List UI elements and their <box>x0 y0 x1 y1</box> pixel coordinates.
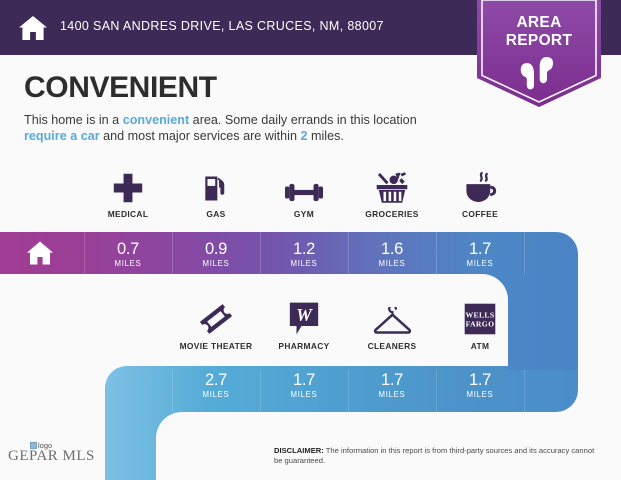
footer-logo: GEPAR MLS logo <box>8 441 118 467</box>
page-title: CONVENIENT <box>24 71 217 105</box>
grocery-basket-icon <box>348 164 436 204</box>
badge-label: AREA REPORT <box>477 14 601 50</box>
disclaimer-label: DISCLAIMER: <box>274 446 324 455</box>
ribbon-home-icon <box>26 240 54 266</box>
distance-cell-cleaners: 1.7 MILES <box>348 371 436 399</box>
distance-cell-gas: 0.9 MILES <box>172 240 260 268</box>
distance-cell-coffee: 1.7 MILES <box>436 240 524 268</box>
area-report-badge: AREA REPORT <box>477 0 601 108</box>
badge-line-2: REPORT <box>477 32 601 50</box>
amenity-medical: MEDICAL <box>84 164 172 228</box>
svg-text:WELLS: WELLS <box>466 310 495 319</box>
amenity-icon-row-1: MEDICAL GAS <box>84 164 524 228</box>
amenity-label: CLEANERS <box>348 341 436 351</box>
walgreens-w-icon: W <box>260 296 348 336</box>
movie-ticket-icon <box>172 296 260 336</box>
distance-unit: MILES <box>260 259 348 268</box>
home-icon <box>18 14 48 42</box>
subtitle-part-4: miles. <box>308 129 344 143</box>
distance-unit: MILES <box>348 390 436 399</box>
distance-value: 1.7 <box>348 371 436 389</box>
amenity-cleaners: CLEANERS <box>348 296 436 360</box>
amenity-label: COFFEE <box>436 209 524 219</box>
distance-unit: MILES <box>436 390 524 399</box>
gas-pump-icon <box>172 164 260 204</box>
disclaimer: DISCLAIMER: The information in this repo… <box>274 446 599 466</box>
distance-cell-pharmacy: 1.7 MILES <box>260 371 348 399</box>
clothes-hanger-icon <box>348 296 436 336</box>
amenity-label: GROCERIES <box>348 209 436 219</box>
broken-image-alt: logo <box>38 441 52 450</box>
page-subtitle: This home is in a convenient area. Some … <box>24 112 454 144</box>
svg-text:W: W <box>296 305 313 325</box>
distance-unit: MILES <box>84 259 172 268</box>
distance-unit: MILES <box>260 390 348 399</box>
amenity-label: PHARMACY <box>260 341 348 351</box>
wells-fargo-icon: WELLS FARGO <box>436 296 524 336</box>
distance-cell-medical: 0.7 MILES <box>84 240 172 268</box>
amenity-movie-theater: MOVIE THEATER <box>172 296 260 360</box>
dumbbell-icon <box>260 164 348 204</box>
distance-unit: MILES <box>172 390 260 399</box>
broken-image-placeholder <box>30 442 37 449</box>
distance-value: 1.2 <box>260 240 348 258</box>
svg-text:FARGO: FARGO <box>466 320 495 329</box>
distance-value: 1.7 <box>436 371 524 389</box>
amenity-icon-row-2: MOVIE THEATER W PHARMACY CLEANERS <box>172 296 524 360</box>
subtitle-part-2: area. Some daily errands in this locatio… <box>189 113 417 127</box>
amenity-coffee: COFFEE <box>436 164 524 228</box>
subtitle-part-1: This home is in a <box>24 113 123 127</box>
distance-value: 0.9 <box>172 240 260 258</box>
amenity-label: MEDICAL <box>84 209 172 219</box>
distance-value: 0.7 <box>84 240 172 258</box>
distance-cell-groceries: 1.6 MILES <box>348 240 436 268</box>
amenity-gas: GAS <box>172 164 260 228</box>
distance-value: 1.7 <box>436 240 524 258</box>
subtitle-highlight-require-a-car: require a car <box>24 129 100 143</box>
distance-value: 2.7 <box>172 371 260 389</box>
amenity-label: MOVIE THEATER <box>172 341 260 351</box>
subtitle-part-3: and most major services are within <box>100 129 301 143</box>
broken-image-icon: logo <box>30 441 52 452</box>
amenity-label: GAS <box>172 209 260 219</box>
distance-unit: MILES <box>348 259 436 268</box>
area-report-page: 1400 SAN ANDRES DRIVE, LAS CRUCES, NM, 8… <box>0 0 621 480</box>
distance-cell-atm: 1.7 MILES <box>436 371 524 399</box>
badge-line-1: AREA <box>477 14 601 32</box>
amenity-label: ATM <box>436 341 524 351</box>
distance-cell-movie-theater: 2.7 MILES <box>172 371 260 399</box>
distance-value: 1.6 <box>348 240 436 258</box>
distance-value: 1.7 <box>260 371 348 389</box>
subtitle-highlight-miles: 2 <box>300 129 307 143</box>
medical-cross-icon <box>84 164 172 204</box>
amenity-gym: GYM <box>260 164 348 228</box>
amenity-label: GYM <box>260 209 348 219</box>
amenity-pharmacy: W PHARMACY <box>260 296 348 360</box>
distance-unit: MILES <box>436 259 524 268</box>
property-address: 1400 SAN ANDRES DRIVE, LAS CRUCES, NM, 8… <box>60 19 384 33</box>
coffee-cup-icon <box>436 164 524 204</box>
amenity-groceries: GROCERIES <box>348 164 436 228</box>
distance-unit: MILES <box>172 259 260 268</box>
subtitle-highlight-convenient: convenient <box>123 113 189 127</box>
distance-cell-gym: 1.2 MILES <box>260 240 348 268</box>
amenity-atm: WELLS FARGO ATM <box>436 296 524 360</box>
